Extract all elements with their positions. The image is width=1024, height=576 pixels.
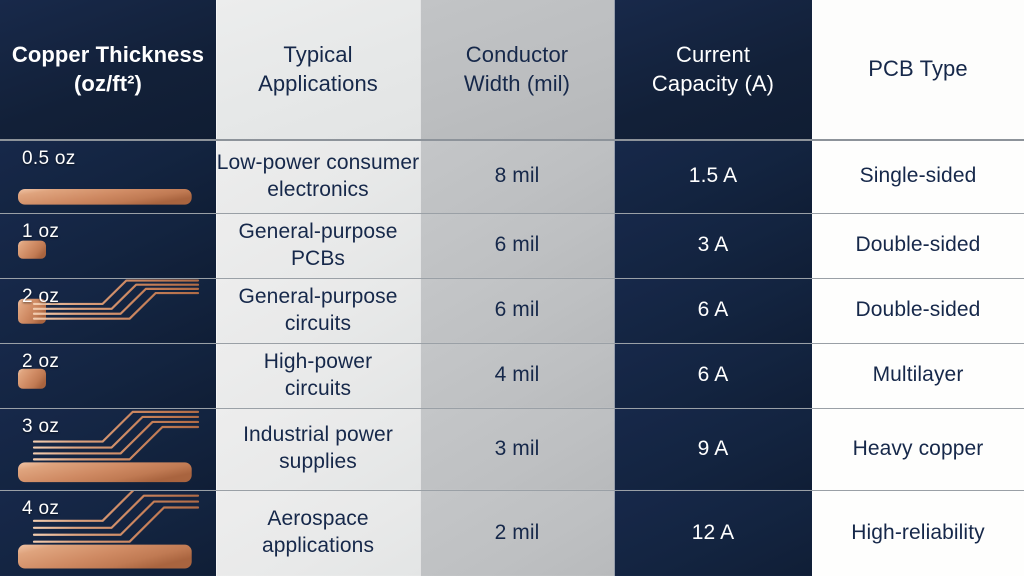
- copper-pad: [18, 189, 192, 205]
- cell-conductor-width: 4 mil: [420, 343, 614, 408]
- typical-applications-line1: Low-power consumer: [216, 150, 420, 177]
- pcb-type-value: Double-sided: [812, 297, 1024, 324]
- table-row: 2 ozGeneral-purposecircuits6 mil6 ADoubl…: [0, 278, 1024, 343]
- header-row: Copper Thickness (oz/ft²) Typical Applic…: [0, 0, 1024, 140]
- pcb-type-value: High-reliability: [812, 520, 1024, 547]
- column-header-current-capacity: Current Capacity (A): [614, 0, 812, 140]
- cell-copper-thickness: 2 oz: [0, 278, 216, 343]
- cell-pcb-type: Heavy copper: [812, 408, 1024, 490]
- copper-trace-illustration: [0, 279, 216, 343]
- current-capacity-value: 6 A: [614, 362, 812, 389]
- table-body: 0.5 ozLow-power consumerelectronics8 mil…: [0, 140, 1024, 576]
- copper-trace-illustration: [0, 491, 216, 576]
- cell-pcb-type: Double-sided: [812, 213, 1024, 278]
- cell-conductor-width: 8 mil: [420, 140, 614, 213]
- cell-conductor-width: 6 mil: [420, 278, 614, 343]
- current-capacity-value: 3 A: [614, 232, 812, 259]
- table-header: Copper Thickness (oz/ft²) Typical Applic…: [0, 0, 1024, 140]
- conductor-width-value: 2 mil: [420, 520, 614, 547]
- copper-thickness-visual: 1 oz: [0, 214, 216, 278]
- typical-applications-line2: circuits: [216, 376, 420, 403]
- table-row: 2 ozHigh-powercircuits4 mil6 AMultilayer: [0, 343, 1024, 408]
- cell-copper-thickness: 0.5 oz: [0, 140, 216, 213]
- cell-copper-thickness: 2 oz: [0, 343, 216, 408]
- column-header-copper-thickness-line2: (oz/ft²): [0, 70, 216, 99]
- typical-applications-line2: PCBs: [216, 246, 420, 273]
- pcb-type-value: Multilayer: [812, 362, 1024, 389]
- conductor-width-value: 6 mil: [420, 297, 614, 324]
- copper-thickness-visual: 4 oz: [0, 491, 216, 576]
- cell-typical-applications: General-purposePCBs: [216, 213, 420, 278]
- cell-pcb-type: Multilayer: [812, 343, 1024, 408]
- typical-applications-line1: Industrial power: [216, 422, 420, 449]
- cell-pcb-type: Single-sided: [812, 140, 1024, 213]
- cell-current-capacity: 3 A: [614, 213, 812, 278]
- typical-applications-line2: circuits: [216, 311, 420, 338]
- cell-typical-applications: General-purposecircuits: [216, 278, 420, 343]
- current-capacity-value: 9 A: [614, 436, 812, 463]
- typical-applications-line2: applications: [216, 533, 420, 560]
- cell-current-capacity: 9 A: [614, 408, 812, 490]
- copper-trace-illustration: [0, 141, 216, 213]
- cell-pcb-type: Double-sided: [812, 278, 1024, 343]
- table-row: 4 ozAerospaceapplications2 mil12 AHigh-r…: [0, 490, 1024, 576]
- column-header-copper-thickness: Copper Thickness (oz/ft²): [0, 0, 216, 140]
- copper-thickness-visual: 3 oz: [0, 409, 216, 490]
- cell-conductor-width: 6 mil: [420, 213, 614, 278]
- pcb-type-value: Heavy copper: [812, 436, 1024, 463]
- copper-thickness-table: Copper Thickness (oz/ft²) Typical Applic…: [0, 0, 1024, 576]
- column-header-conductor-width-line1: Conductor: [420, 41, 614, 70]
- copper-trace-line: [34, 495, 198, 527]
- cell-conductor-width: 2 mil: [420, 490, 614, 576]
- conductor-width-value: 4 mil: [420, 362, 614, 389]
- table-row: 3 ozIndustrial powersupplies3 mil9 AHeav…: [0, 408, 1024, 490]
- copper-trace-illustration: [0, 409, 216, 490]
- cell-copper-thickness: 3 oz: [0, 408, 216, 490]
- pcb-type-value: Single-sided: [812, 163, 1024, 190]
- cell-current-capacity: 6 A: [614, 343, 812, 408]
- pcb-type-value: Double-sided: [812, 232, 1024, 259]
- copper-thickness-visual: 2 oz: [0, 344, 216, 408]
- current-capacity-value: 1.5 A: [614, 163, 812, 190]
- current-capacity-value: 12 A: [614, 520, 812, 547]
- column-header-typical-applications-line2: Applications: [216, 70, 420, 99]
- copper-trace-illustration: [0, 214, 216, 278]
- column-header-current-capacity-line2: Capacity (A): [614, 70, 812, 99]
- column-header-current-capacity-line1: Current: [614, 41, 812, 70]
- copper-pad: [18, 544, 192, 568]
- conductor-width-value: 6 mil: [420, 232, 614, 259]
- cell-pcb-type: High-reliability: [812, 490, 1024, 576]
- typical-applications-line1: High-power: [216, 349, 420, 376]
- copper-pad: [18, 462, 192, 482]
- column-header-pcb-type: PCB Type: [812, 0, 1024, 140]
- cell-typical-applications: Industrial powersupplies: [216, 408, 420, 490]
- column-header-conductor-width-line2: Width (mil): [420, 70, 614, 99]
- cell-copper-thickness: 4 oz: [0, 490, 216, 576]
- cell-current-capacity: 6 A: [614, 278, 812, 343]
- current-capacity-value: 6 A: [614, 297, 812, 324]
- conductor-width-value: 8 mil: [420, 163, 614, 190]
- typical-applications-line1: Aerospace: [216, 506, 420, 533]
- cell-current-capacity: 12 A: [614, 490, 812, 576]
- cell-copper-thickness: 1 oz: [0, 213, 216, 278]
- cell-current-capacity: 1.5 A: [614, 140, 812, 213]
- cell-typical-applications: Aerospaceapplications: [216, 490, 420, 576]
- copper-trace-illustration: [0, 344, 216, 408]
- typical-applications-line2: electronics: [216, 177, 420, 204]
- column-header-copper-thickness-line1: Copper Thickness: [0, 41, 216, 70]
- copper-thickness-visual: 2 oz: [0, 279, 216, 343]
- column-header-typical-applications: Typical Applications: [216, 0, 420, 140]
- column-header-pcb-type-line1: PCB Type: [812, 55, 1024, 84]
- typical-applications-line1: General-purpose: [216, 284, 420, 311]
- typical-applications-line2: supplies: [216, 449, 420, 476]
- conductor-width-value: 3 mil: [420, 436, 614, 463]
- cell-conductor-width: 3 mil: [420, 408, 614, 490]
- cell-typical-applications: High-powercircuits: [216, 343, 420, 408]
- copper-lead-pad: [18, 298, 46, 323]
- column-header-typical-applications-line1: Typical: [216, 41, 420, 70]
- table-row: 0.5 ozLow-power consumerelectronics8 mil…: [0, 140, 1024, 213]
- typical-applications-line1: General-purpose: [216, 219, 420, 246]
- table-row: 1 ozGeneral-purposePCBs6 mil3 ADouble-si…: [0, 213, 1024, 278]
- cell-typical-applications: Low-power consumerelectronics: [216, 140, 420, 213]
- copper-thickness-visual: 0.5 oz: [0, 141, 216, 213]
- copper-thickness-table-root: Copper Thickness (oz/ft²) Typical Applic…: [0, 0, 1024, 576]
- column-header-conductor-width: Conductor Width (mil): [420, 0, 614, 140]
